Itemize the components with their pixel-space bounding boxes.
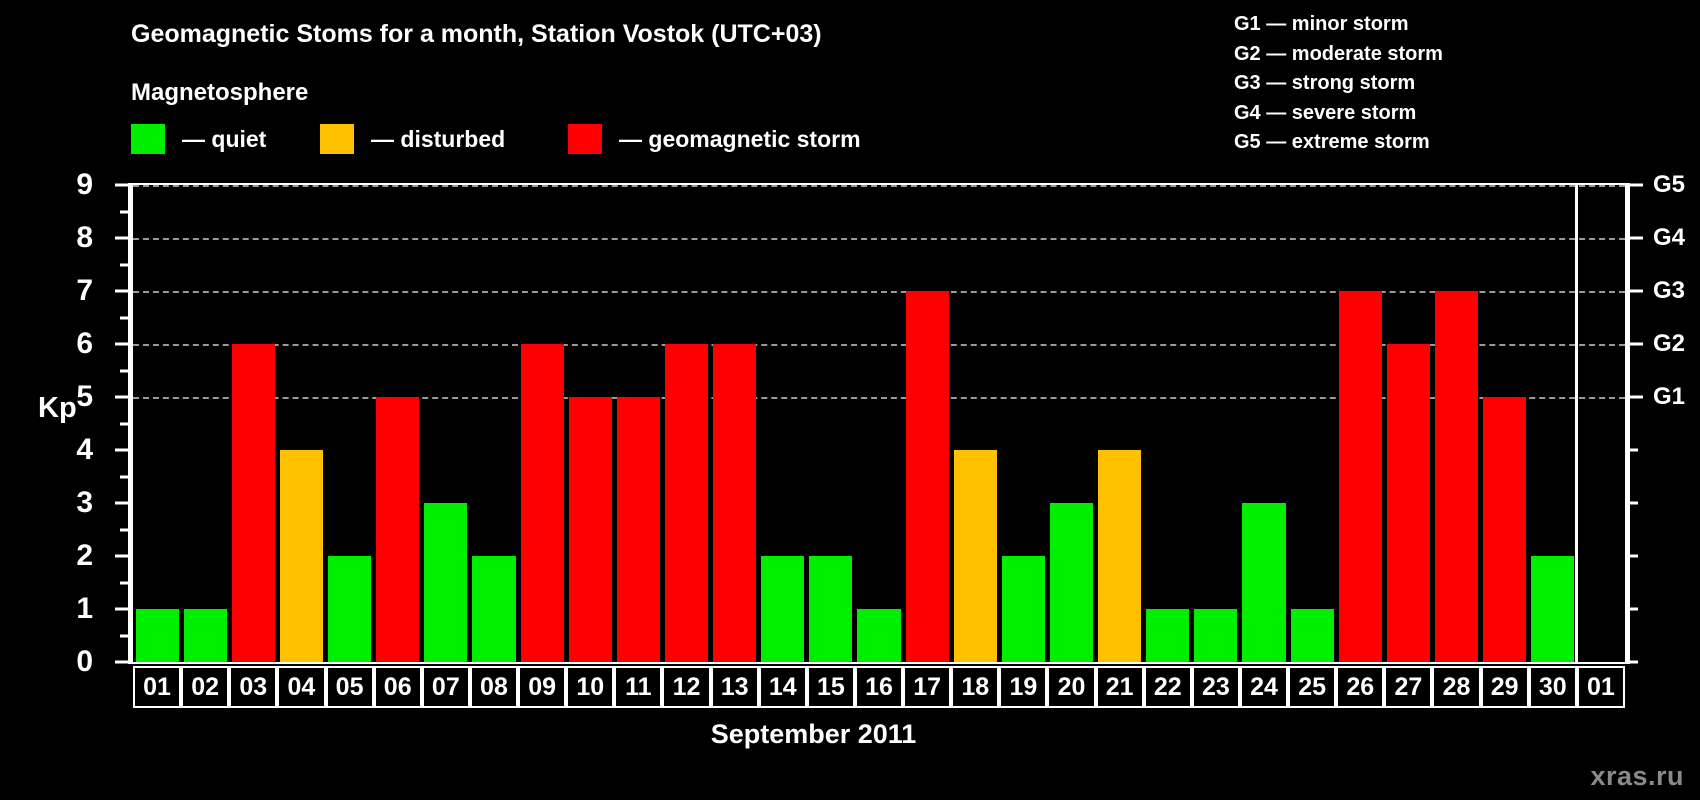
legend-swatch-icon: [320, 124, 354, 154]
y-tick-label-2: 2: [76, 539, 93, 573]
g-scale-row-4: G4 — severe storm: [1234, 99, 1443, 129]
bar-day-22[interactable]: [1146, 609, 1189, 662]
y-tick-label-6: 6: [76, 327, 93, 361]
bar-day-11[interactable]: [617, 397, 660, 662]
bar-day-30[interactable]: [1531, 556, 1574, 662]
day-label-22[interactable]: 23: [1192, 666, 1240, 708]
page-title: Geomagnetic Stoms for a month, Station V…: [131, 20, 822, 49]
day-label-7[interactable]: 08: [470, 666, 518, 708]
bar-day-04[interactable]: [280, 450, 323, 662]
y-tick-minor: [120, 581, 129, 584]
watermark: xras.ru: [1590, 761, 1684, 792]
day-label-29[interactable]: 30: [1529, 666, 1577, 708]
day-label-3[interactable]: 04: [277, 666, 325, 708]
day-label-2[interactable]: 03: [229, 666, 277, 708]
legend-label: — quiet: [182, 126, 266, 153]
g-scale-row-1: G1 — minor storm: [1234, 10, 1443, 40]
g-tick-mark-G2: [1629, 343, 1643, 346]
bar-day-13[interactable]: [713, 344, 756, 662]
y-tick-minor: [120, 422, 129, 425]
legend-entry-1: — disturbed: [320, 122, 505, 156]
day-label-27[interactable]: 28: [1432, 666, 1480, 708]
bar-day-27[interactable]: [1387, 344, 1430, 662]
y-axis-right-spine: [1627, 183, 1630, 664]
g-tick-mark-G1: [1629, 396, 1643, 399]
y-tick-minor: [120, 475, 129, 478]
g-tick-minor: [1629, 608, 1638, 611]
g-scale-row-2: G2 — moderate storm: [1234, 40, 1443, 70]
y-tick-minor: [120, 528, 129, 531]
day-label-5[interactable]: 06: [374, 666, 422, 708]
day-label-4[interactable]: 05: [326, 666, 374, 708]
magnetosphere-label: Magnetosphere: [131, 79, 308, 107]
g-tick-label-G1: G1: [1653, 383, 1685, 411]
day-label-14[interactable]: 15: [807, 666, 855, 708]
day-separator-line: [1575, 185, 1578, 662]
bar-day-19[interactable]: [1002, 556, 1045, 662]
day-label-12[interactable]: 13: [711, 666, 759, 708]
y-tick-mark-5: [115, 396, 129, 399]
g-tick-label-G5: G5: [1653, 171, 1685, 199]
g-scale-legend: G1 — minor stormG2 — moderate stormG3 — …: [1234, 10, 1443, 158]
y-tick-mark-1: [115, 608, 129, 611]
g-scale-row-3: G3 — strong storm: [1234, 69, 1443, 99]
y-tick-minor: [120, 369, 129, 372]
bar-day-23[interactable]: [1194, 609, 1237, 662]
legend-swatch-icon: [568, 124, 602, 154]
day-label-25[interactable]: 26: [1336, 666, 1384, 708]
x-axis-day-labels: 0102030405060708091011121314151617181920…: [131, 666, 1627, 708]
y-tick-minor: [120, 263, 129, 266]
day-label-13[interactable]: 14: [759, 666, 807, 708]
bar-day-15[interactable]: [809, 556, 852, 662]
day-label-23[interactable]: 24: [1240, 666, 1288, 708]
day-label-21[interactable]: 22: [1144, 666, 1192, 708]
y-axis-title: Kp: [38, 392, 77, 425]
y-tick-minor: [120, 634, 129, 637]
bar-day-09[interactable]: [521, 344, 564, 662]
bar-day-01[interactable]: [136, 609, 179, 662]
legend-entry-2: — geomagnetic storm: [568, 122, 861, 156]
day-label-17[interactable]: 18: [951, 666, 999, 708]
y-tick-mark-8: [115, 237, 129, 240]
g-scale-row-5: G5 — extreme storm: [1234, 128, 1443, 158]
y-tick-label-9: 9: [76, 168, 93, 202]
day-label-9[interactable]: 10: [566, 666, 614, 708]
bar-day-14[interactable]: [761, 556, 804, 662]
day-label-0[interactable]: 01: [133, 666, 181, 708]
bar-day-03[interactable]: [232, 344, 275, 662]
bar-day-07[interactable]: [424, 503, 467, 662]
day-label-8[interactable]: 09: [518, 666, 566, 708]
y-tick-mark-2: [115, 555, 129, 558]
bar-day-29[interactable]: [1483, 397, 1526, 662]
y-tick-minor: [120, 316, 129, 319]
legend-label: — disturbed: [371, 126, 505, 153]
y-tick-mark-9: [115, 184, 129, 187]
g-tick-minor: [1629, 555, 1638, 558]
g-tick-label-G2: G2: [1653, 330, 1685, 358]
bar-day-08[interactable]: [472, 556, 515, 662]
y-tick-label-7: 7: [76, 274, 93, 308]
y-tick-mark-7: [115, 290, 129, 293]
bar-day-05[interactable]: [328, 556, 371, 662]
day-label-11[interactable]: 12: [662, 666, 710, 708]
day-label-24[interactable]: 25: [1288, 666, 1336, 708]
g-tick-label-G4: G4: [1653, 224, 1685, 252]
bar-day-21[interactable]: [1098, 450, 1141, 662]
y-tick-label-4: 4: [76, 433, 93, 467]
y-tick-label-5: 5: [76, 380, 93, 414]
g-tick-minor: [1629, 449, 1638, 452]
day-label-28[interactable]: 29: [1481, 666, 1529, 708]
day-label-20[interactable]: 21: [1096, 666, 1144, 708]
day-label-19[interactable]: 20: [1047, 666, 1095, 708]
y-tick-mark-3: [115, 502, 129, 505]
g-tick-mark-G4: [1629, 237, 1643, 240]
y-tick-label-3: 3: [76, 486, 93, 520]
x-axis-title: September 2011: [0, 719, 1700, 750]
bar-day-02[interactable]: [184, 609, 227, 662]
bar-day-24[interactable]: [1242, 503, 1285, 662]
x-axis-title-text: September 2011: [711, 719, 917, 750]
day-label-1[interactable]: 02: [181, 666, 229, 708]
day-label-30[interactable]: 01: [1577, 666, 1625, 708]
legend-label: — geomagnetic storm: [619, 126, 861, 153]
y-tick-label-8: 8: [76, 221, 93, 255]
bar-day-17[interactable]: [906, 291, 949, 662]
legend-swatch-icon: [131, 124, 165, 154]
y-axis-right-g-scale: G1G2G3G4G5: [1627, 183, 1700, 664]
bar-day-26[interactable]: [1339, 291, 1382, 662]
bar-day-28[interactable]: [1435, 291, 1478, 662]
g-tick-mark-G5: [1629, 184, 1643, 187]
g-tick-label-G3: G3: [1653, 277, 1685, 305]
bar-day-06[interactable]: [376, 397, 419, 662]
bar-day-16[interactable]: [857, 609, 900, 662]
y-tick-minor: [120, 210, 129, 213]
g-tick-mark-G3: [1629, 290, 1643, 293]
y-tick-mark-4: [115, 449, 129, 452]
y-tick-label-0: 0: [76, 645, 93, 679]
bars-layer: [133, 185, 1625, 662]
g-tick-minor: [1629, 502, 1638, 505]
bar-day-10[interactable]: [569, 397, 612, 662]
bar-day-20[interactable]: [1050, 503, 1093, 662]
day-label-26[interactable]: 27: [1384, 666, 1432, 708]
g-tick-minor: [1629, 661, 1638, 664]
y-tick-label-1: 1: [76, 592, 93, 626]
bar-day-18[interactable]: [954, 450, 997, 662]
day-label-18[interactable]: 19: [999, 666, 1047, 708]
bar-day-12[interactable]: [665, 344, 708, 662]
plot-inner: [133, 185, 1625, 662]
day-label-10[interactable]: 11: [614, 666, 662, 708]
plot-area: [131, 183, 1627, 664]
day-label-16[interactable]: 17: [903, 666, 951, 708]
legend-entry-0: — quiet: [131, 122, 266, 156]
y-tick-mark-0: [115, 661, 129, 664]
day-label-6[interactable]: 07: [422, 666, 470, 708]
y-tick-mark-6: [115, 343, 129, 346]
day-label-15[interactable]: 16: [855, 666, 903, 708]
bar-day-25[interactable]: [1291, 609, 1334, 662]
